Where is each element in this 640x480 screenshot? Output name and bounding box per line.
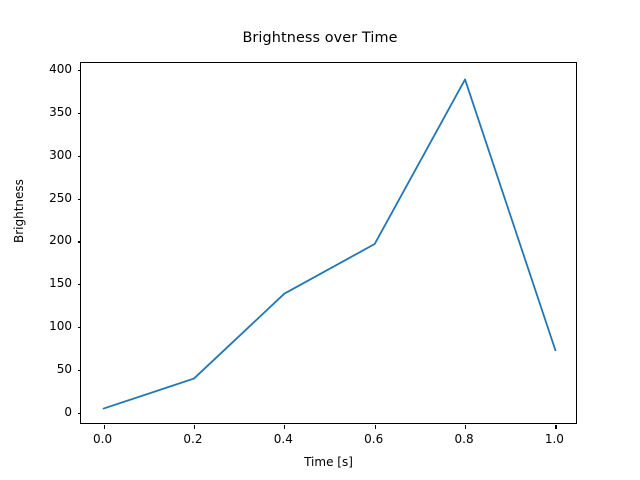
y-tick-mark [78, 370, 82, 371]
y-tick-mark [78, 413, 82, 414]
y-tick-label: 400 [0, 62, 72, 76]
y-tick-mark [78, 156, 82, 157]
x-tick-label: 0.6 [364, 432, 383, 446]
y-tick-label: 0 [0, 405, 72, 419]
y-tick-label: 50 [0, 362, 72, 376]
y-tick-mark [78, 70, 82, 71]
plot-axes [80, 62, 577, 424]
x-tick-label: 0.4 [274, 432, 293, 446]
x-tick-mark [465, 425, 466, 429]
x-tick-mark [194, 425, 195, 429]
x-tick-label: 1.0 [545, 432, 564, 446]
y-tick-label: 150 [0, 276, 72, 290]
y-tick-mark [78, 327, 82, 328]
plot-area [81, 63, 578, 425]
x-axis-label: Time [s] [80, 455, 577, 469]
y-tick-label: 350 [0, 105, 72, 119]
y-tick-mark [78, 241, 82, 242]
x-tick-mark [375, 425, 376, 429]
x-tick-mark [104, 425, 105, 429]
x-tick-label: 0.2 [183, 432, 202, 446]
figure-canvas: Brightness over Time Brightness Time [s]… [0, 0, 640, 480]
x-tick-label: 0.8 [455, 432, 474, 446]
x-tick-mark [284, 425, 285, 429]
y-tick-mark [78, 199, 82, 200]
y-tick-label: 200 [0, 233, 72, 247]
y-tick-mark [78, 113, 82, 114]
y-tick-label: 300 [0, 148, 72, 162]
data-line-brightness [104, 79, 556, 408]
x-tick-label: 0.0 [93, 432, 112, 446]
y-tick-mark [78, 284, 82, 285]
y-tick-label: 100 [0, 319, 72, 333]
y-tick-label: 250 [0, 191, 72, 205]
x-tick-mark [555, 425, 556, 429]
chart-title: Brightness over Time [0, 30, 640, 46]
